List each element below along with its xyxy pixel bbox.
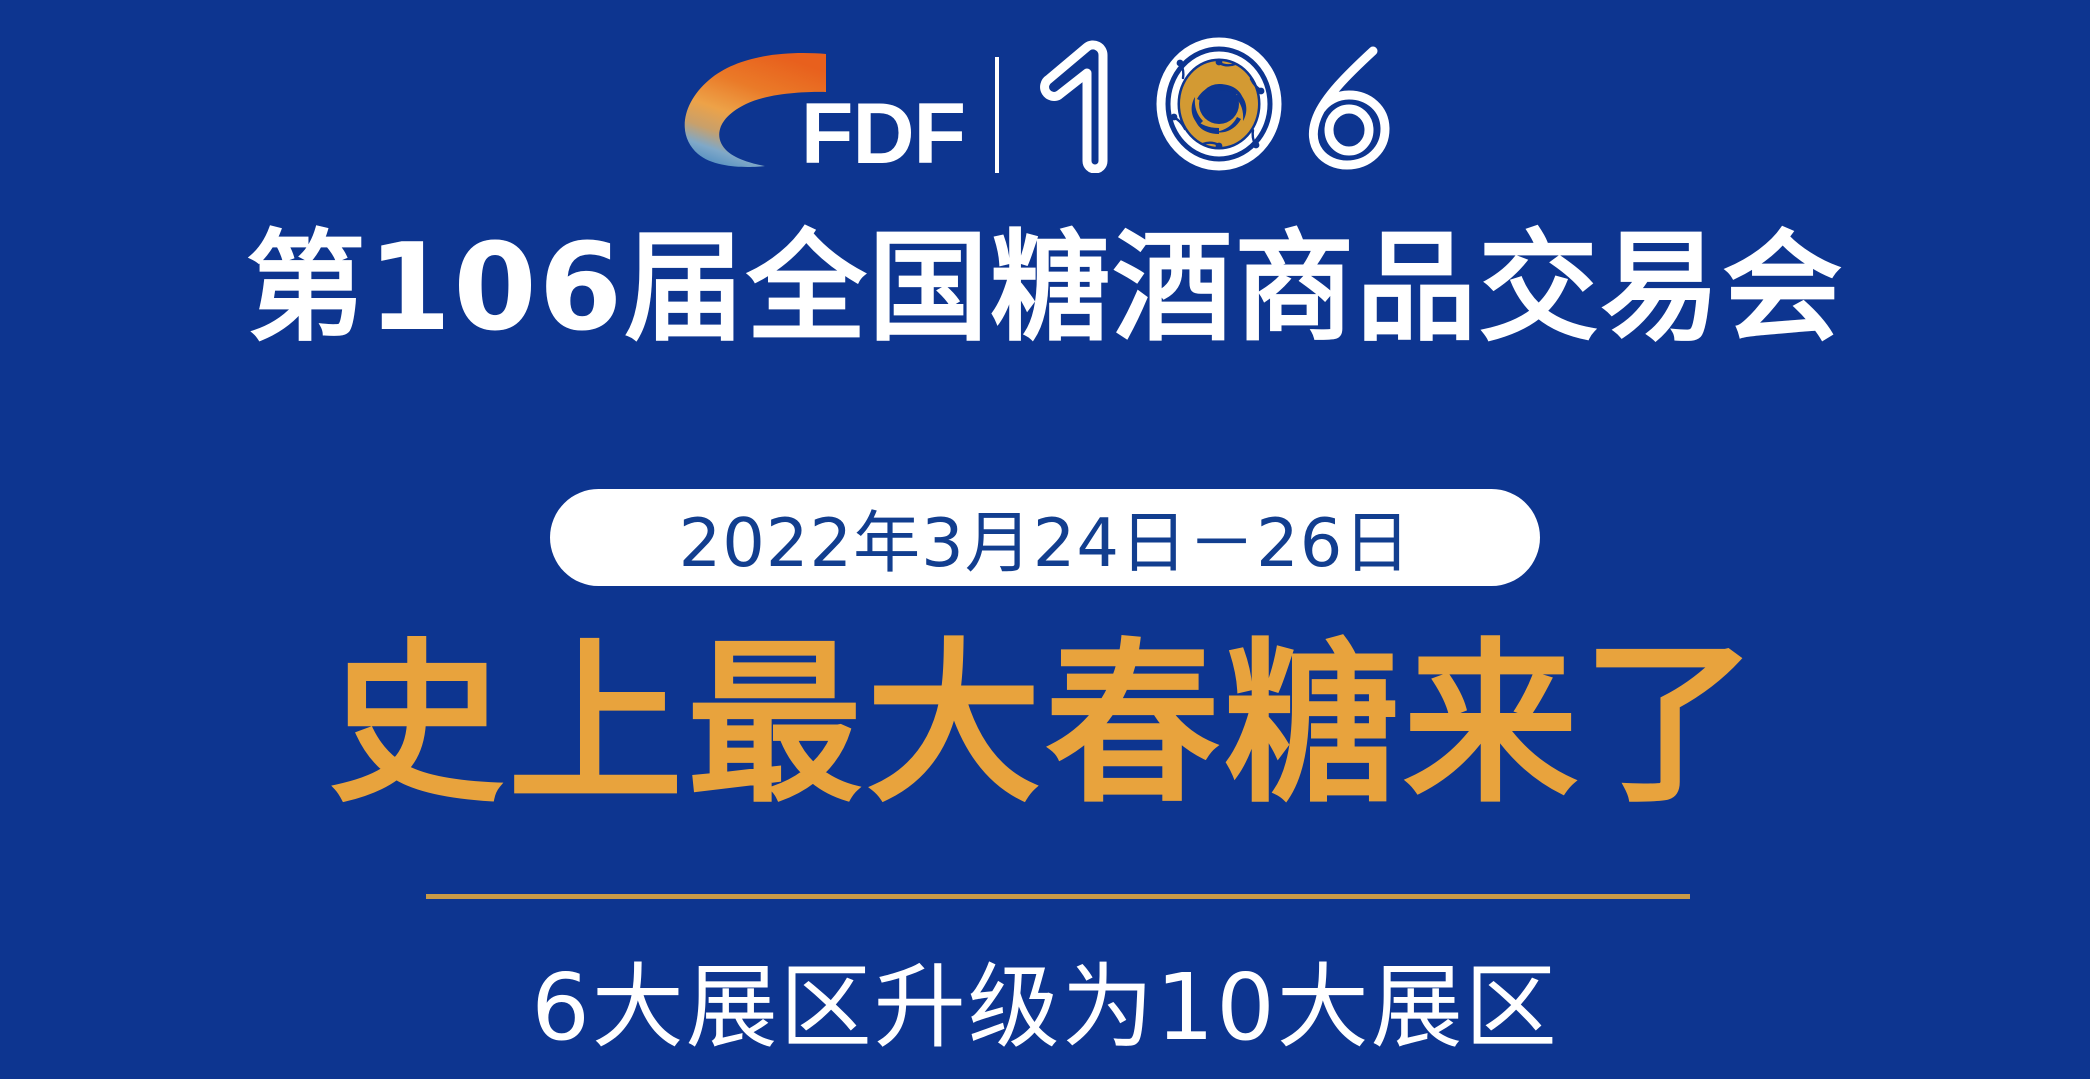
decorative-speck [853,503,860,515]
fdf-wordmark: FDF [801,94,965,176]
edition-number-106 [1029,35,1411,173]
horizontal-rule [426,894,1690,899]
numeral-six-icon [1291,35,1411,173]
numeral-one-icon [1029,35,1147,173]
fdf-logo-lockup: FDF [679,30,965,180]
headline: 史上最大春糖来了 [0,630,2090,823]
subtitle: 6大展区升级为10大展区 [0,956,2090,1059]
logo-bar: FDF [0,22,2090,187]
vertical-divider-icon [995,57,999,173]
poster-canvas: FDF [0,0,2090,1079]
ornamental-zero-medallion-icon [1149,35,1289,173]
date-badge-wrapper: 2022年3月24日－26日 [0,489,2090,586]
date-badge: 2022年3月24日－26日 [550,489,1540,586]
page-title: 第106届全国糖酒商品交易会 [0,218,2090,360]
